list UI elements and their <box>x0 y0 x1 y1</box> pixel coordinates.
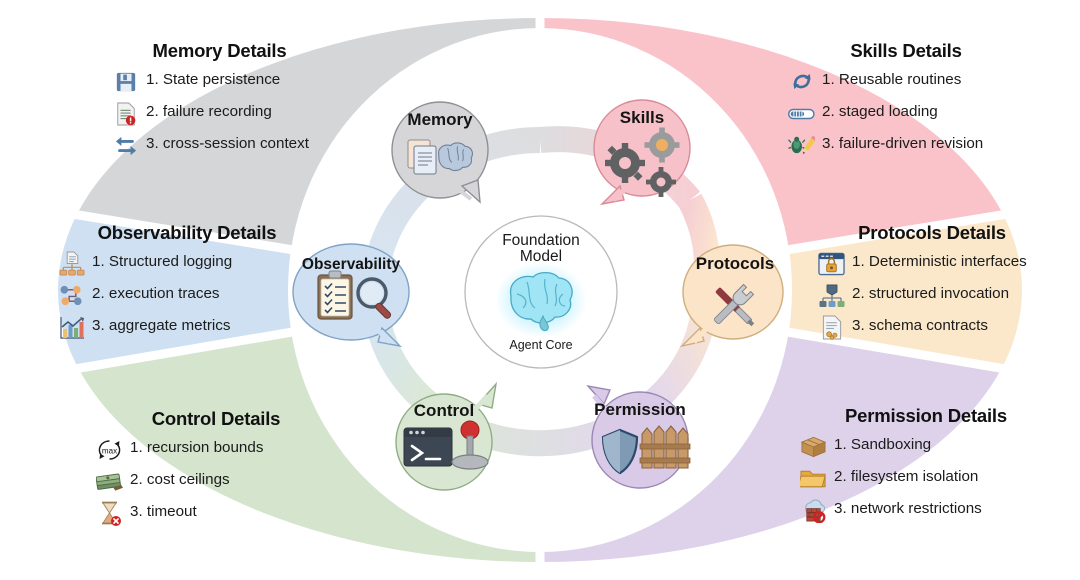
list-item: 3. failure-driven revision <box>788 133 1048 158</box>
folder-icon <box>800 466 827 491</box>
max-loop-icon: max <box>96 437 123 462</box>
list-item-text: 1. State persistence <box>146 69 280 88</box>
bug-pencil-icon <box>788 133 815 158</box>
list-item: 2. failure recording <box>112 101 362 126</box>
panel-protocols-details: Protocols Details 1. Deterministic inter… <box>818 222 1070 347</box>
panel-skills-heading: Skills Details <box>788 40 1024 62</box>
list-item-text: 3. timeout <box>130 501 197 520</box>
list-item: 2. execution traces <box>58 283 326 308</box>
list-item-text: 1. Reusable routines <box>822 69 961 88</box>
panel-permission-details: Permission Details 1. Sandboxing 2. file… <box>800 405 1064 530</box>
panel-control-heading: Control Details <box>96 408 336 430</box>
bubble-label-skills: Skills <box>602 108 682 128</box>
core-subtitle: Agent Core <box>481 338 601 352</box>
document-gear-icon <box>818 315 845 340</box>
panel-memory-heading: Memory Details <box>112 40 327 62</box>
list-item: 1. Structured logging <box>58 251 326 276</box>
list-item: 1. State persistence <box>112 69 362 94</box>
list-item: 3. cross-session context <box>112 133 362 158</box>
panel-observability-heading: Observability Details <box>58 222 316 244</box>
money-stack-icon <box>96 469 123 494</box>
list-item: 2. staged loading <box>788 101 1048 126</box>
panel-skills-details: Skills Details 1. Reusable routines 2. s… <box>788 40 1048 165</box>
refresh-cycle-icon <box>788 69 815 94</box>
bar-chart-icon <box>58 315 85 340</box>
document-alert-icon <box>112 101 139 126</box>
list-item-text: 3. schema contracts <box>852 315 988 334</box>
list-item-text: 3. network restrictions <box>834 498 982 517</box>
diagram-canvas: Memory Skills Protocols Permission Contr… <box>0 0 1080 580</box>
hierarchy-doc-icon <box>58 251 85 276</box>
panel-observability-details: Observability Details 1. Structured logg… <box>58 222 326 347</box>
list-item: 2. structured invocation <box>818 283 1070 308</box>
svg-text:max: max <box>102 446 117 455</box>
list-item: 1. Deterministic interfaces <box>818 251 1070 276</box>
list-item-text: 2. structured invocation <box>852 283 1009 302</box>
list-item-text: 2. execution traces <box>92 283 220 302</box>
core-title-line2: Model <box>520 248 562 265</box>
bubble-label-memory: Memory <box>400 110 480 130</box>
core-title: Foundation Model <box>481 233 601 266</box>
list-item-text: 1. Structured logging <box>92 251 232 270</box>
list-item: 2. cost ceilings <box>96 469 356 494</box>
hourglass-error-icon <box>96 501 123 526</box>
list-item-text: 1. recursion bounds <box>130 437 263 456</box>
list-item-text: 2. staged loading <box>822 101 938 120</box>
bubble-label-protocols: Protocols <box>690 254 780 274</box>
panel-protocols-heading: Protocols Details <box>818 222 1046 244</box>
panel-control-details: Control Details max 1. recursion bounds … <box>96 408 356 533</box>
list-item-text: 1. Sandboxing <box>834 434 931 453</box>
list-item: 3. schema contracts <box>818 315 1070 340</box>
list-item-text: 1. Deterministic interfaces <box>852 251 1027 270</box>
list-item-text: 3. aggregate metrics <box>92 315 230 334</box>
org-tree-icon <box>818 283 845 308</box>
list-item: 3. aggregate metrics <box>58 315 326 340</box>
list-item-text: 2. filesystem isolation <box>834 466 978 485</box>
list-item: max 1. recursion bounds <box>96 437 356 462</box>
list-item: 1. Reusable routines <box>788 69 1048 94</box>
panel-memory-details: Memory Details 1. State persistence 2. f… <box>112 40 362 165</box>
core-title-line1: Foundation <box>502 232 580 249</box>
list-item: 3. network restrictions <box>800 498 1064 523</box>
floppy-disk-icon <box>112 69 139 94</box>
bubble-label-permission: Permission <box>585 400 695 420</box>
browser-lock-icon <box>818 251 845 276</box>
exchange-arrows-icon <box>112 133 139 158</box>
list-item-text: 2. failure recording <box>146 101 272 120</box>
list-item-text: 3. cross-session context <box>146 133 309 152</box>
progress-bar-icon <box>788 101 815 126</box>
list-item: 1. Sandboxing <box>800 434 1064 459</box>
node-graph-icon <box>58 283 85 308</box>
list-item-text: 2. cost ceilings <box>130 469 230 488</box>
panel-permission-heading: Permission Details <box>800 405 1052 427</box>
bubble-label-control: Control <box>404 401 484 421</box>
terminal-icon <box>404 428 452 466</box>
box-icon <box>800 434 827 459</box>
cloud-firewall-blocked-icon <box>800 498 827 523</box>
list-item: 3. timeout <box>96 501 356 526</box>
list-item-text: 3. failure-driven revision <box>822 133 983 152</box>
list-item: 2. filesystem isolation <box>800 466 1064 491</box>
